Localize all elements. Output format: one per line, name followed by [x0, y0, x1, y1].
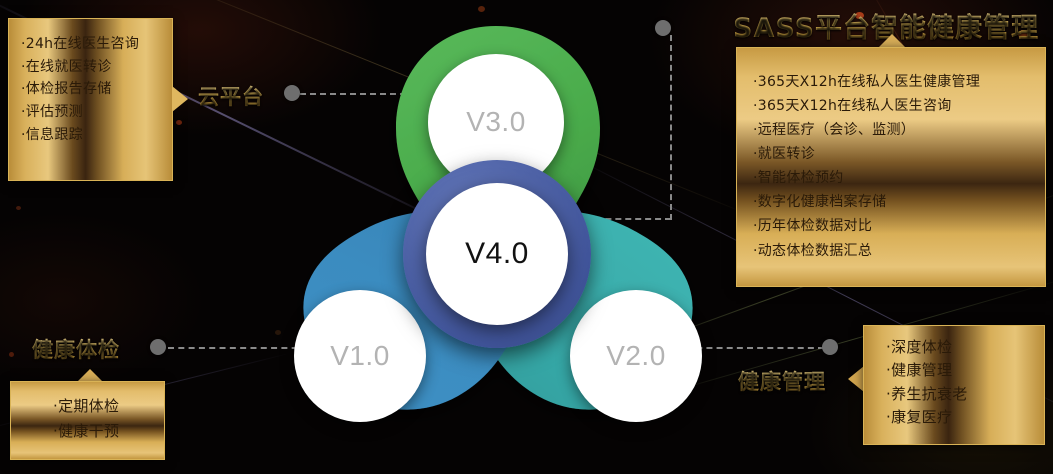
- list-item: ·就医转诊: [753, 142, 1045, 166]
- panel-health-management-items: ·深度体检 ·健康管理 ·养生抗衰老 ·康复医疗: [864, 326, 1044, 430]
- node-v4[interactable]: V4.0: [426, 183, 568, 325]
- list-item: ·养生抗衰老: [886, 383, 1044, 406]
- panel-cloud-platform: ·24h在线医生咨询 ·在线就医转诊 ·体检报告存储 ·评估预测 ·信息跟踪: [8, 18, 173, 181]
- panel-cloud-platform-items: ·24h在线医生咨询 ·在线就医转诊 ·体检报告存储 ·评估预测 ·信息跟踪: [9, 19, 172, 146]
- list-item: ·数字化健康档案存储: [753, 190, 1045, 214]
- list-item: ·历年体检数据对比: [753, 214, 1045, 238]
- list-item: ·在线就医转诊: [21, 56, 172, 79]
- list-item: ·智能体检预约: [753, 166, 1045, 190]
- list-item: ·24h在线医生咨询: [21, 33, 172, 56]
- background-spark: [176, 120, 182, 125]
- background-spark: [16, 206, 21, 210]
- panel-health-checkup-items: ·定期体检 ·健康干预: [11, 382, 164, 444]
- panel-sass-platform: ·365天X12h在线私人医生健康管理 ·365天X12h在线私人医生咨询 ·远…: [736, 47, 1046, 287]
- connector-dot-management: [822, 339, 838, 355]
- label-health-checkup: 健康体检: [32, 334, 120, 364]
- panel-health-management: ·深度体检 ·健康管理 ·养生抗衰老 ·康复医疗: [863, 325, 1045, 445]
- node-v4-label: V4.0: [465, 237, 529, 271]
- node-v1-label: V1.0: [330, 340, 390, 372]
- list-item: ·评估预测: [21, 101, 172, 124]
- version-spinner-diagram: V3.0 V1.0 V2.0 V4.0: [278, 8, 718, 460]
- infographic-canvas: V3.0 V1.0 V2.0 V4.0 ·24h在线医生咨询 ·在线就医转诊 ·…: [0, 0, 1053, 474]
- list-item: ·动态体检数据汇总: [753, 239, 1045, 263]
- node-v1[interactable]: V1.0: [294, 290, 426, 422]
- list-item: ·深度体检: [886, 336, 1044, 359]
- label-cloud-platform: 云平台: [198, 81, 264, 111]
- node-v2-label: V2.0: [606, 340, 666, 372]
- label-health-management: 健康管理: [738, 366, 826, 396]
- list-item: ·康复医疗: [886, 406, 1044, 429]
- panel-sass-pointer-icon: [878, 34, 906, 48]
- list-item: ·体检报告存储: [21, 78, 172, 101]
- list-item: ·信息跟踪: [21, 124, 172, 147]
- list-item: ·远程医疗（会诊、监测）: [753, 118, 1045, 142]
- list-item: ·365天X12h在线私人医生咨询: [753, 94, 1045, 118]
- list-item: ·365天X12h在线私人医生健康管理: [753, 70, 1045, 94]
- panel-health-management-pointer-icon: [848, 366, 864, 392]
- list-item: ·健康管理: [886, 359, 1044, 382]
- list-item: ·定期体检: [53, 394, 164, 419]
- background-spark: [9, 352, 14, 357]
- list-item: ·健康干预: [53, 419, 164, 444]
- panel-health-checkup: ·定期体检 ·健康干预: [10, 381, 165, 460]
- panel-cloud-platform-pointer-icon: [172, 86, 188, 112]
- connector-dot-checkup: [150, 339, 166, 355]
- node-v2[interactable]: V2.0: [570, 290, 702, 422]
- panel-sass-platform-items: ·365天X12h在线私人医生健康管理 ·365天X12h在线私人医生咨询 ·远…: [737, 48, 1045, 263]
- node-v3-label: V3.0: [466, 106, 526, 138]
